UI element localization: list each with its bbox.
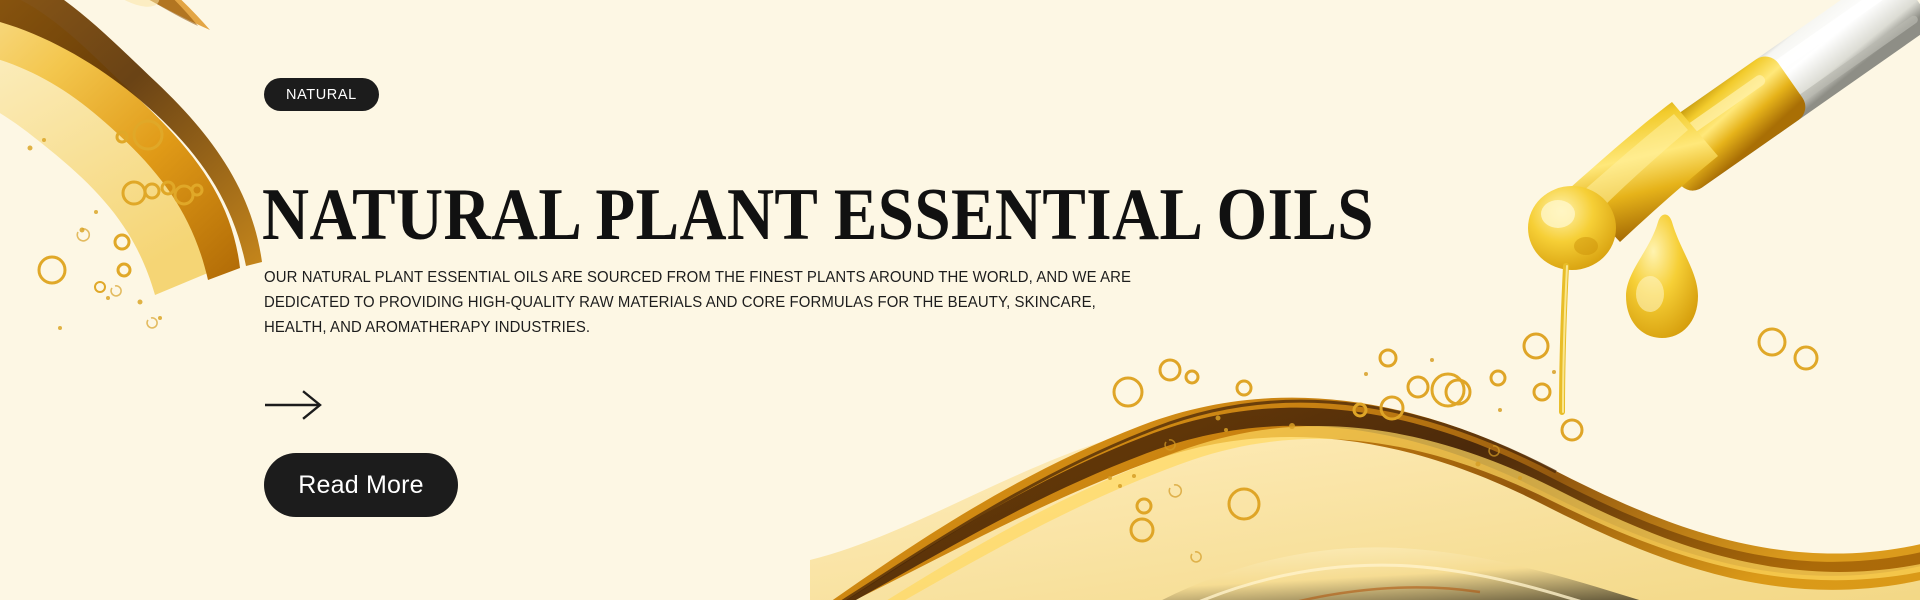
arrow-right-icon[interactable]: [264, 388, 326, 422]
hero-banner: NATURAL NATURAL PLANT ESSENTIAL OILS OUR…: [0, 0, 1920, 600]
glass-dropper-decoration: [1320, 0, 1920, 430]
hero-description: OUR NATURAL PLANT ESSENTIAL OILS ARE SOU…: [264, 265, 1137, 340]
read-more-button[interactable]: Read More: [264, 453, 458, 517]
page-title: NATURAL PLANT ESSENTIAL OILS: [262, 178, 1374, 252]
hero-content: NATURAL NATURAL PLANT ESSENTIAL OILS OUR…: [264, 0, 1264, 600]
natural-badge: NATURAL: [264, 78, 379, 111]
